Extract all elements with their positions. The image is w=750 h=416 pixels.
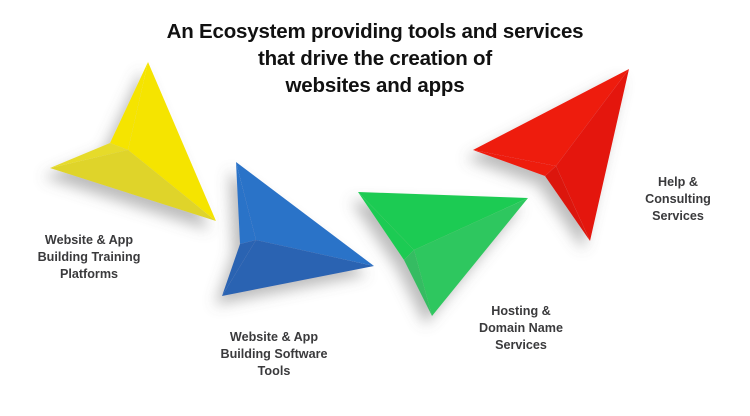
infographic-canvas: An Ecosystem providing tools and service…	[0, 0, 750, 416]
caption-line: Consulting	[604, 191, 750, 208]
caption-line: Building Training	[0, 249, 180, 266]
caption-line: Platforms	[0, 266, 180, 283]
arrow-green[interactable]	[358, 192, 528, 316]
caption-line: Help &	[604, 174, 750, 191]
caption-line: Building Software	[176, 346, 372, 363]
caption-website-app-building-software-tools: Website & App Building Software Tools	[176, 329, 372, 380]
caption-line: Tools	[176, 363, 372, 380]
caption-line: Website & App	[176, 329, 372, 346]
caption-line: Website & App	[0, 232, 180, 249]
arrow-yellow[interactable]	[50, 62, 216, 221]
arrow-blue[interactable]	[222, 162, 374, 296]
caption-line: Domain Name	[438, 320, 604, 337]
caption-line: Services	[438, 337, 604, 354]
caption-line: Services	[604, 208, 750, 225]
caption-hosting-domain-name-services: Hosting & Domain Name Services	[438, 303, 604, 354]
caption-help-consulting-services: Help & Consulting Services	[604, 174, 750, 225]
caption-line: Hosting &	[438, 303, 604, 320]
caption-website-app-building-training-platforms: Website & App Building Training Platform…	[0, 232, 180, 283]
